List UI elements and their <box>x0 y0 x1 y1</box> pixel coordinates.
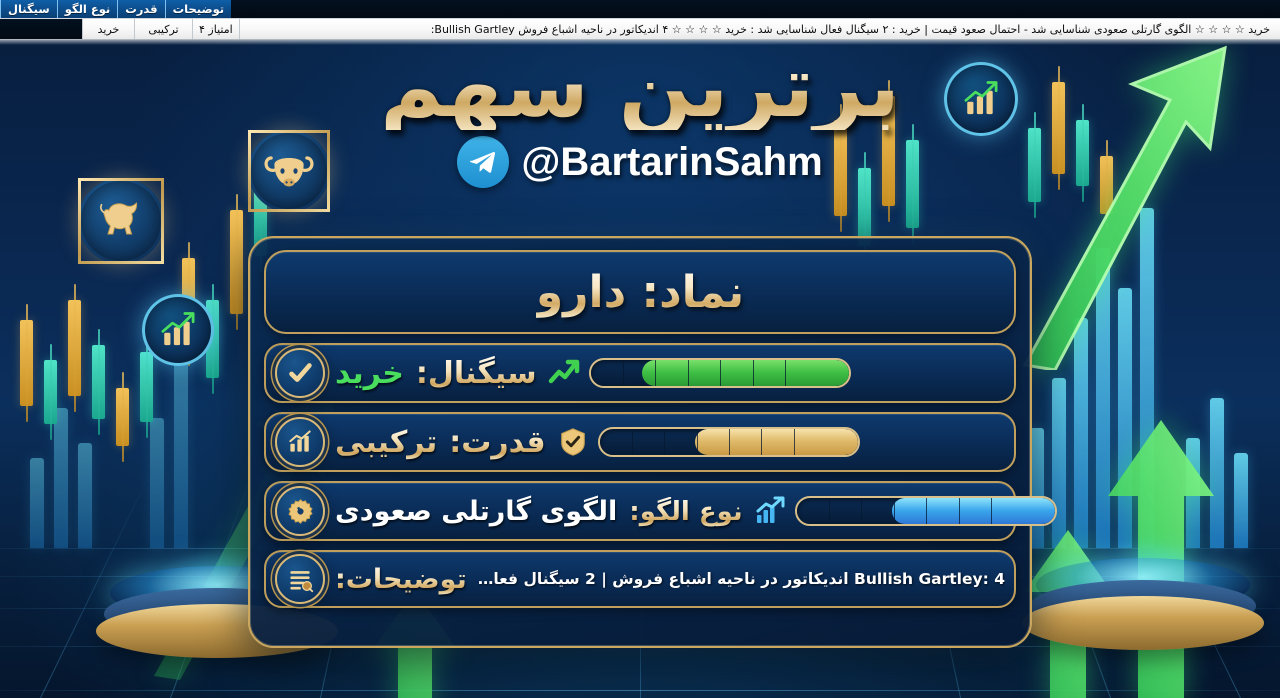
power-meter-group <box>556 425 860 459</box>
signal-label-group: سیگنال: خرید <box>335 356 537 391</box>
growth-chart-icon <box>156 308 200 352</box>
table-header-pattern[interactable]: نوع الگو <box>57 0 118 18</box>
podium-right <box>1018 540 1268 660</box>
table-header-spacer <box>231 0 1280 18</box>
description-label: توضیحات: <box>335 564 467 595</box>
table-cell-power: امتیاز ۴ <box>192 19 239 39</box>
bull-side-emblem <box>78 178 164 264</box>
table-cell-pattern: ترکیبی <box>134 19 192 39</box>
power-value: ترکیبی <box>335 425 437 460</box>
table-header-power[interactable]: قدرت <box>117 0 164 18</box>
bull-head-emblem <box>248 130 330 212</box>
brand-title: برترین سهم <box>340 44 940 130</box>
table-cell-signal: خرید <box>82 19 134 39</box>
table-header-notes[interactable]: توضیحات <box>165 0 232 18</box>
pattern-value: الگوی گارتلی صعودی <box>335 496 617 527</box>
chart-arrow-icon <box>753 494 787 528</box>
big-up-arrow-icon <box>1020 40 1230 370</box>
brand-header: برترین سهم @BartarinSahm <box>340 44 940 188</box>
results-table-strip: سیگنال نوع الگو قدرت توضیحات خرید ترکیبی… <box>0 0 1280 44</box>
power-row: قدرت: ترکیبی <box>264 412 1016 472</box>
growth-chart-icon <box>959 77 1003 121</box>
bar-chart-icon <box>275 417 325 467</box>
trend-up-arrow-icon <box>547 356 581 390</box>
strip-shadow <box>0 40 1280 45</box>
power-label-group: قدرت: ترکیبی <box>335 425 546 460</box>
signal-row: سیگنال: خرید <box>264 343 1016 403</box>
signal-meter-group <box>547 356 851 390</box>
table-row[interactable]: خرید ترکیبی امتیاز ۴ خرید ☆ ☆ ☆ ☆ الگوی … <box>0 18 1280 40</box>
shield-check-icon <box>556 425 590 459</box>
symbol-text: نماد: دارو <box>536 267 744 318</box>
table-row-tail <box>0 19 82 39</box>
signal-meter <box>589 358 851 388</box>
table-cell-notes: خرید ☆ ☆ ☆ ☆ الگوی گارتلی صعودی شناسایی … <box>239 19 1280 39</box>
telegram-icon <box>457 136 509 188</box>
signal-card: نماد: دارو سیگنال: خرید <box>248 236 1032 648</box>
pattern-meter-group <box>753 494 1057 528</box>
signal-value: خرید <box>335 356 404 391</box>
signal-label: سیگنال: <box>416 356 537 391</box>
symbol-row: نماد: دارو <box>264 250 1016 334</box>
description-row: توضیحات: Bullish Gartley: 4 اندیکاتور در… <box>264 550 1016 608</box>
power-meter <box>598 427 860 457</box>
pattern-label: نوع الگو: <box>629 497 742 527</box>
bull-side-icon <box>95 195 147 247</box>
gear-icon <box>275 486 325 536</box>
pattern-label-group: نوع الگو: الگوی گارتلی صعودی <box>335 496 743 527</box>
bull-head-icon <box>263 145 315 197</box>
check-circle-icon <box>275 348 325 398</box>
brand-handle-text: @BartarinSahm <box>521 140 822 185</box>
growth-chart-emblem <box>944 62 1018 136</box>
pattern-row: نوع الگو: الگوی گارتلی صعودی <box>264 481 1016 541</box>
power-label: قدرت: <box>449 425 545 460</box>
table-header-row: سیگنال نوع الگو قدرت توضیحات <box>0 0 1280 18</box>
table-header-signal[interactable]: سیگنال <box>0 0 57 18</box>
brand-handle: @BartarinSahm <box>340 136 940 188</box>
growth-chart-emblem <box>142 294 214 366</box>
description-text: Bullish Gartley: 4 اندیکاتور در ناحیه اش… <box>477 570 1005 588</box>
pattern-meter <box>795 496 1057 526</box>
signal-card-screen: برترین سهم @BartarinSahm نماد: دارو سیگن <box>0 0 1280 698</box>
document-search-icon <box>275 554 325 604</box>
